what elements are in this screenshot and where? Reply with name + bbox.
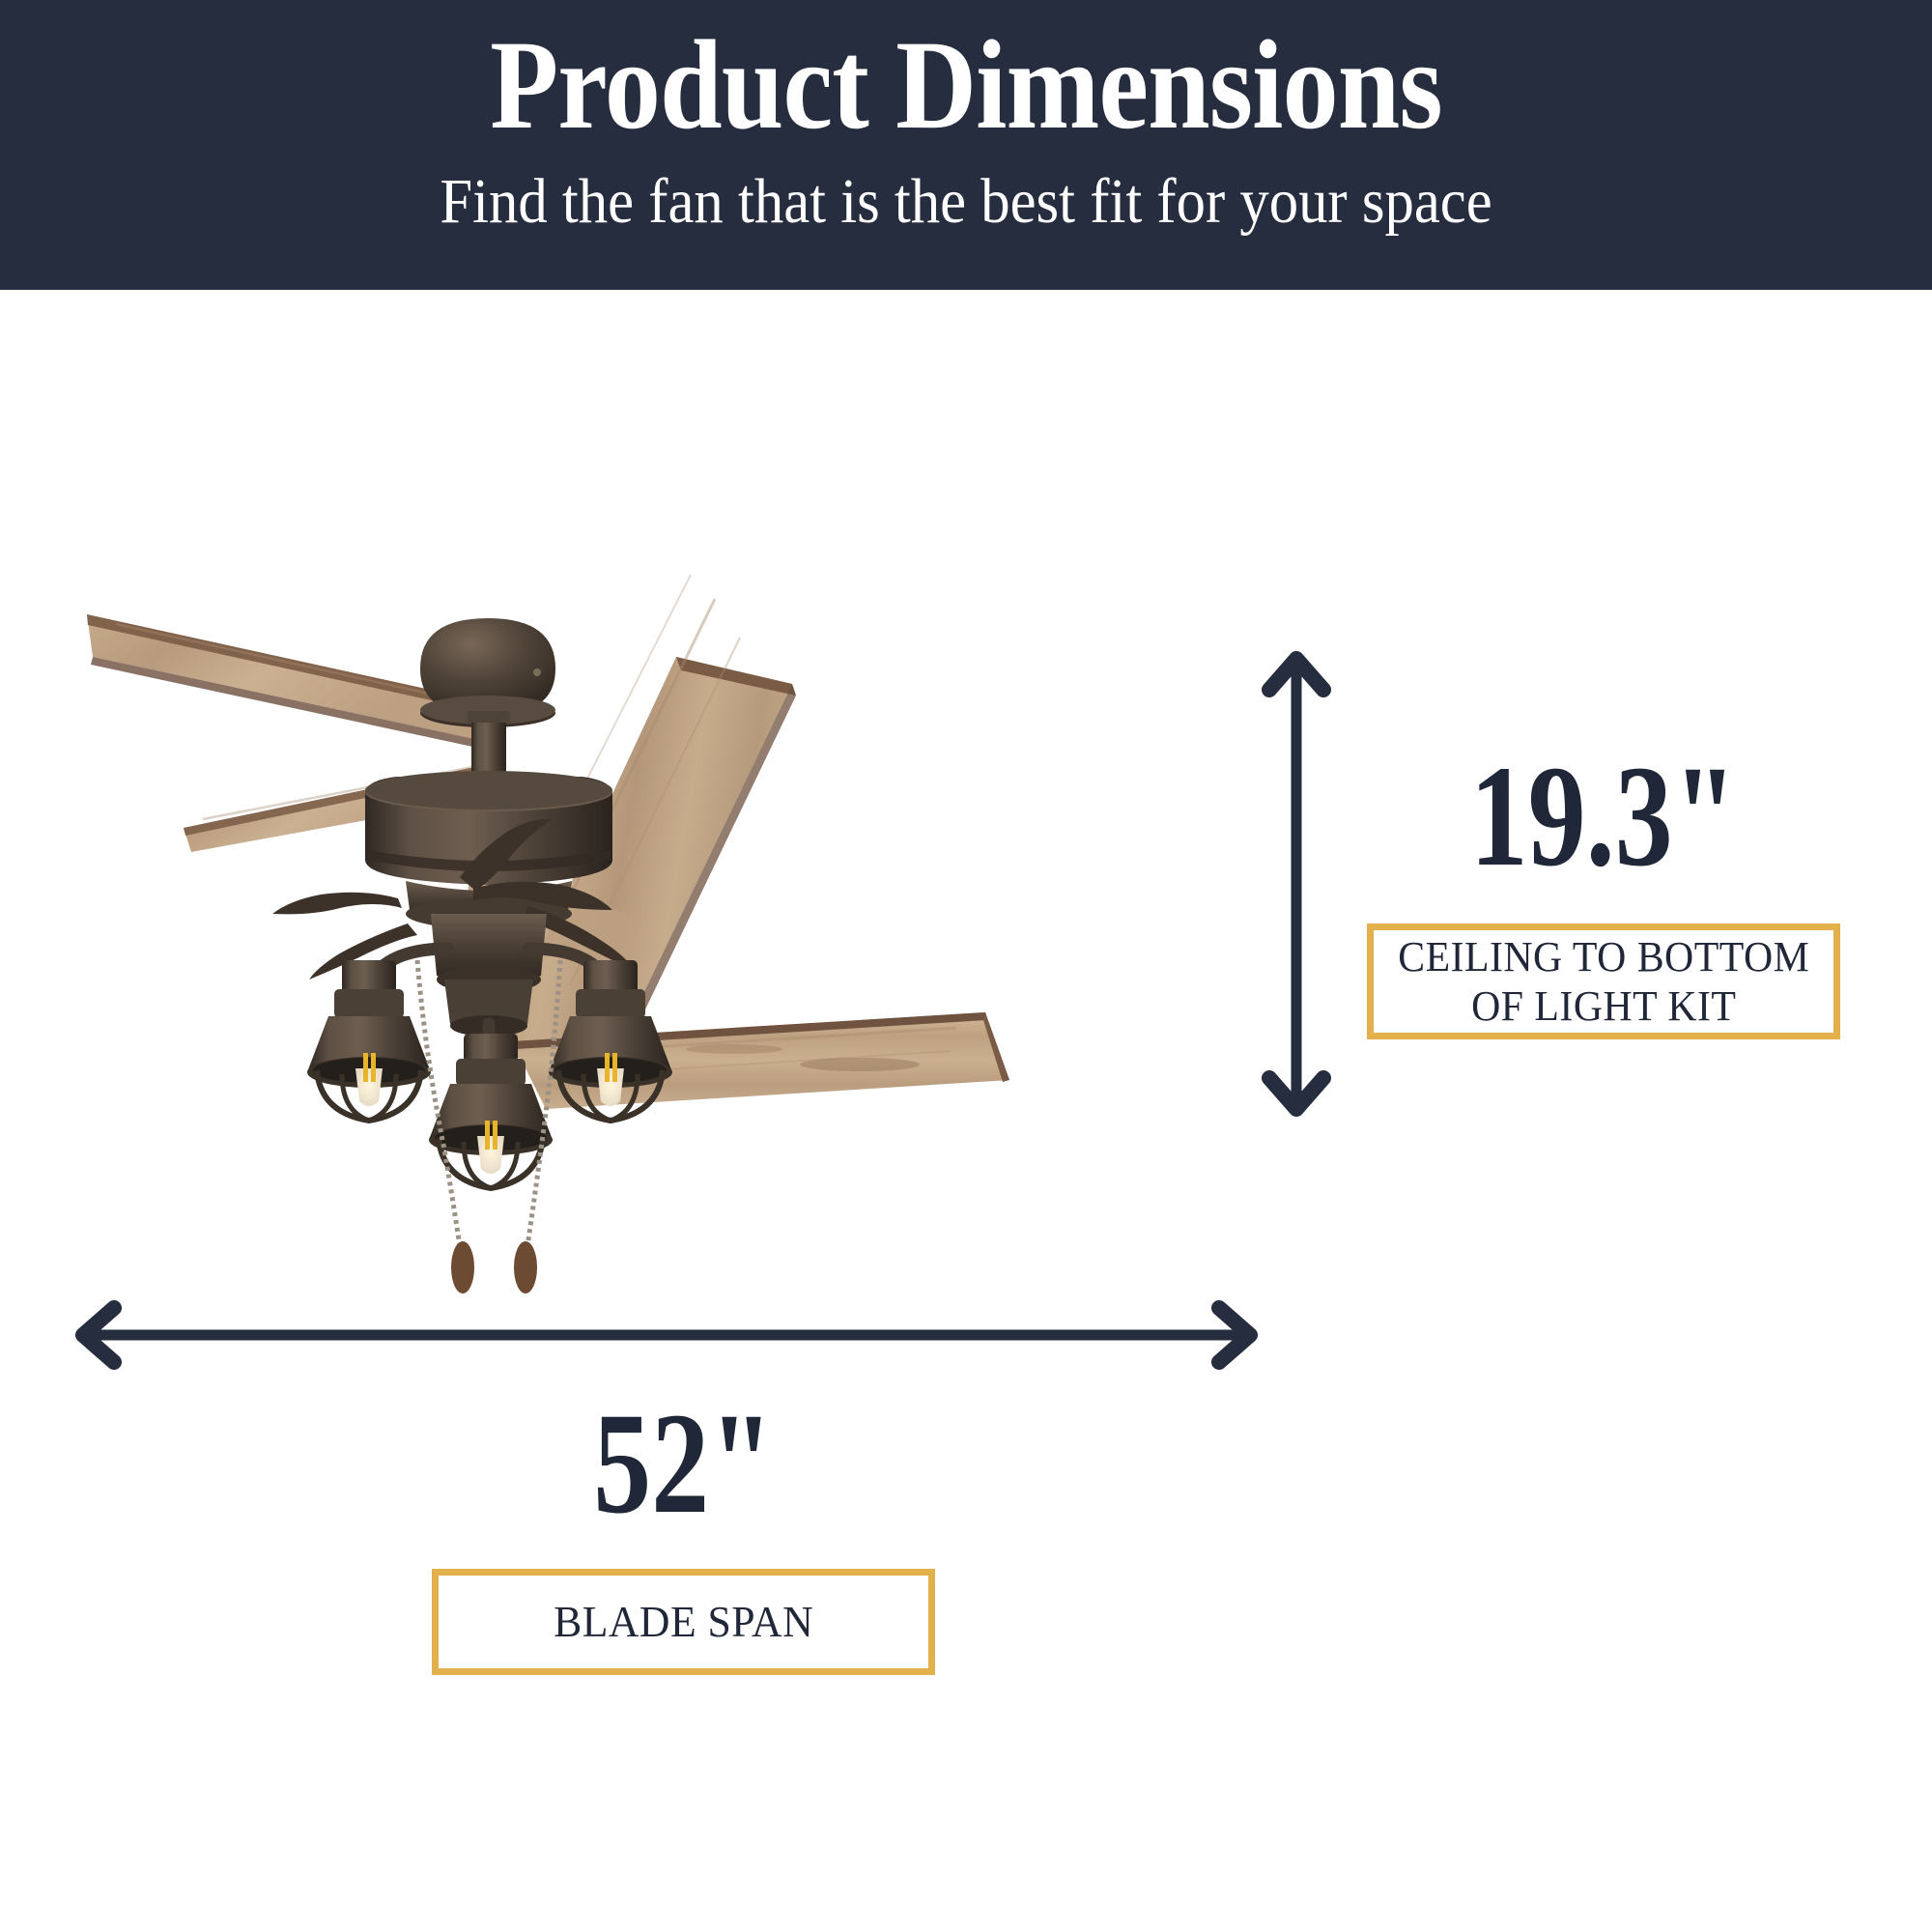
product-dimensions-infographic: Product Dimensions Find the fan that is … <box>0 0 1932 1932</box>
ceiling-fan-product-image <box>58 570 1217 1304</box>
height-measurement-label-box: CEILING TO BOTTOM OF LIGHT KIT <box>1367 923 1840 1039</box>
width-measurement-label: BLADE SPAN <box>554 1596 813 1647</box>
height-measurement-group: 19.3" CEILING TO BOTTOM OF LIGHT KIT <box>1367 744 1840 1039</box>
width-measurement-label-box: BLADE SPAN <box>432 1569 935 1675</box>
height-dimension-arrow <box>1246 638 1352 1130</box>
height-measurement-value: 19.3" <box>1414 744 1793 889</box>
width-measurement-group: 52" BLADE SPAN <box>432 1391 935 1675</box>
page-title: Product Dimensions <box>490 21 1442 149</box>
header-banner: Product Dimensions Find the fan that is … <box>0 0 1932 290</box>
height-measurement-label: CEILING TO BOTTOM OF LIGHT KIT <box>1398 932 1809 1031</box>
page-subtitle: Find the fan that is the best fit for yo… <box>440 170 1492 234</box>
width-measurement-value: 52" <box>482 1391 885 1536</box>
width-dimension-arrow <box>58 1294 1275 1381</box>
fan-light-left <box>307 960 431 1121</box>
